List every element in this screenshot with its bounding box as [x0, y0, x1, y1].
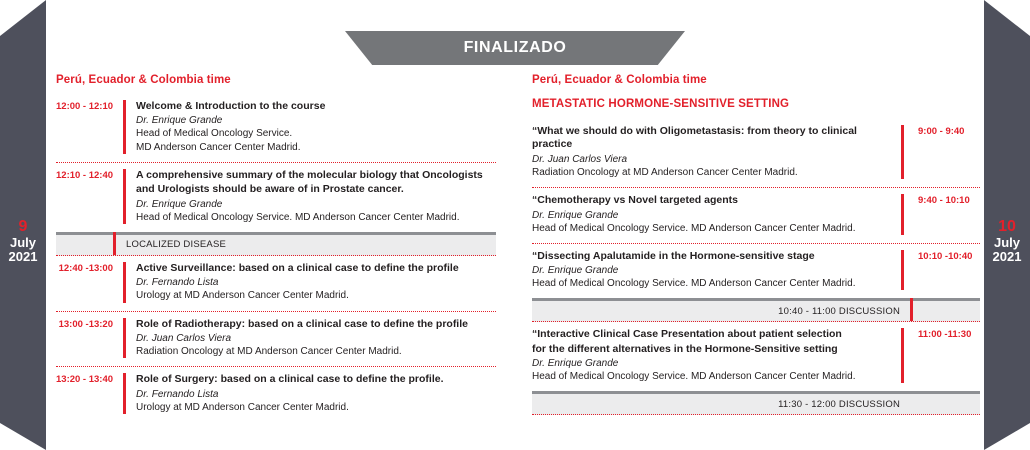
row-time: 9:40 - 10:10	[918, 194, 980, 206]
right-date: 10 July 2021	[984, 218, 1030, 265]
discussion-band-label: 10:40 - 11:00 DISCUSSION	[778, 306, 980, 317]
talk-title: “What we should do with Oligometastasis:…	[532, 125, 895, 152]
row-time: 13:00 -13:20	[56, 318, 123, 330]
talk-title: “Interactive Clinical Case Presentation …	[532, 328, 895, 341]
affiliation: Head of Medical Oncology Service. MD And…	[136, 211, 496, 224]
row-body: “Chemotherapy vs Novel targeted agents D…	[532, 194, 895, 235]
row-accent-bar	[123, 262, 126, 303]
right-agenda-column: Perú, Ecuador & Colombia time METASTATIC…	[532, 74, 980, 415]
right-column-title: Perú, Ecuador & Colombia time	[532, 74, 980, 86]
affiliation: Urology at MD Anderson Cancer Center Mad…	[136, 289, 496, 302]
row-body: “Interactive Clinical Case Presentation …	[532, 328, 895, 383]
row-body: “What we should do with Oligometastasis:…	[532, 125, 895, 179]
right-date-day: 10	[984, 218, 1030, 236]
left-date-panel: 9 July 2021	[0, 0, 46, 450]
talk-title: Role of Surgery: based on a clinical cas…	[136, 373, 496, 386]
row-accent-bar	[123, 318, 126, 359]
agenda-row[interactable]: 13:00 -13:20 Role of Radiotherapy: based…	[56, 312, 496, 368]
agenda-row[interactable]: “Dissecting Apalutamide in the Hormone-s…	[532, 244, 980, 299]
speaker-name: Dr. Enrique Grande	[136, 198, 496, 211]
status-banner: FINALIZADO	[345, 31, 685, 65]
talk-title: Welcome & Introduction to the course	[136, 100, 496, 113]
left-date-day: 9	[0, 218, 46, 236]
right-date-panel: 10 July 2021	[984, 0, 1030, 450]
row-accent-bar	[123, 169, 126, 224]
discussion-band-label: 11:30 - 12:00 DISCUSSION	[778, 399, 980, 410]
talk-title: A comprehensive summary of the molecular…	[136, 169, 496, 182]
row-body: Welcome & Introduction to the course Dr.…	[136, 100, 496, 154]
right-date-year: 2021	[984, 250, 1030, 265]
affiliation: Head of Medical Oncology Service. MD And…	[532, 222, 895, 235]
agenda-row[interactable]: 12:10 - 12:40 A comprehensive summary of…	[56, 163, 496, 232]
affiliation: Radiation Oncology at MD Anderson Cancer…	[136, 345, 496, 358]
affiliation: MD Anderson Cancer Center Madrid.	[136, 141, 496, 154]
speaker-name: Dr. Juan Carlos Viera	[532, 153, 895, 166]
row-accent-bar	[123, 373, 126, 414]
affiliation: Head of Medical Oncology Service.	[136, 127, 496, 140]
row-time: 12:40 -13:00	[56, 262, 123, 274]
row-time: 13:20 - 13:40	[56, 373, 123, 385]
talk-title: “Dissecting Apalutamide in the Hormone-s…	[532, 250, 895, 263]
row-accent-bar	[123, 100, 126, 154]
row-body: Role of Surgery: based on a clinical cas…	[136, 373, 496, 414]
affiliation: Radiation Oncology at MD Anderson Cancer…	[532, 166, 895, 179]
row-accent-bar	[901, 125, 904, 179]
talk-title: Active Surveillance: based on a clinical…	[136, 262, 496, 275]
agenda-row[interactable]: “What we should do with Oligometastasis:…	[532, 119, 980, 188]
talk-title: Role of Radiotherapy: based on a clinica…	[136, 318, 496, 331]
speaker-name: Dr. Juan Carlos Viera	[136, 332, 496, 345]
agenda-row[interactable]: 13:20 - 13:40 Role of Surgery: based on …	[56, 367, 496, 422]
discussion-band: 10:40 - 11:00 DISCUSSION	[532, 298, 980, 322]
row-accent-bar	[901, 250, 904, 291]
talk-title: for the different alternatives in the Ho…	[532, 343, 895, 356]
affiliation: Head of Medical Oncology Service. MD And…	[532, 370, 895, 383]
row-time: 9:00 - 9:40	[918, 125, 980, 137]
row-body: Active Surveillance: based on a clinical…	[136, 262, 496, 303]
speaker-name: Dr. Enrique Grande	[532, 264, 895, 277]
talk-title: “Chemotherapy vs Novel targeted agents	[532, 194, 895, 207]
agenda-row[interactable]: “Chemotherapy vs Novel targeted agents D…	[532, 188, 980, 244]
row-body: “Dissecting Apalutamide in the Hormone-s…	[532, 250, 895, 291]
row-time: 12:00 - 12:10	[56, 100, 123, 112]
speaker-name: Dr. Enrique Grande	[136, 114, 496, 127]
section-band-label: LOCALIZED DISEASE	[56, 239, 226, 250]
left-date-year: 2021	[0, 250, 46, 265]
row-time: 12:10 - 12:40	[56, 169, 123, 181]
status-badge: FINALIZADO	[464, 39, 567, 57]
agenda-row[interactable]: 12:40 -13:00 Active Surveillance: based …	[56, 256, 496, 312]
row-time: 10:10 -10:40	[918, 250, 980, 262]
band-accent-bar	[910, 298, 913, 321]
agenda-poster: 9 July 2021 10 July 2021 FINALIZADO Perú…	[0, 0, 1030, 450]
affiliation: Urology at MD Anderson Cancer Center Mad…	[136, 401, 496, 414]
row-time: 11:00 -11:30	[918, 328, 980, 340]
left-column-title: Perú, Ecuador & Colombia time	[56, 74, 496, 86]
left-date: 9 July 2021	[0, 218, 46, 265]
agenda-row[interactable]: “Interactive Clinical Case Presentation …	[532, 322, 980, 391]
speaker-name: Dr. Enrique Grande	[532, 357, 895, 370]
speaker-name: Dr. Fernando Lista	[136, 276, 496, 289]
right-section-title: METASTATIC HORMONE-SENSITIVE SETTING	[532, 98, 980, 110]
band-accent-bar	[113, 232, 116, 255]
affiliation: Head of Medical Oncology Service. MD And…	[532, 277, 895, 290]
section-band-localized-disease: LOCALIZED DISEASE	[56, 232, 496, 256]
talk-title: and Urologists should be aware of in Pro…	[136, 183, 496, 196]
row-body: Role of Radiotherapy: based on a clinica…	[136, 318, 496, 359]
row-accent-bar	[901, 328, 904, 383]
row-body: A comprehensive summary of the molecular…	[136, 169, 496, 224]
speaker-name: Dr. Fernando Lista	[136, 388, 496, 401]
left-agenda-column: Perú, Ecuador & Colombia time 12:00 - 12…	[56, 74, 496, 422]
left-date-month: July	[0, 236, 46, 251]
agenda-row[interactable]: 12:00 - 12:10 Welcome & Introduction to …	[56, 94, 496, 163]
speaker-name: Dr. Enrique Grande	[532, 209, 895, 222]
row-accent-bar	[901, 194, 904, 235]
right-date-month: July	[984, 236, 1030, 251]
discussion-band: 11:30 - 12:00 DISCUSSION	[532, 391, 980, 415]
